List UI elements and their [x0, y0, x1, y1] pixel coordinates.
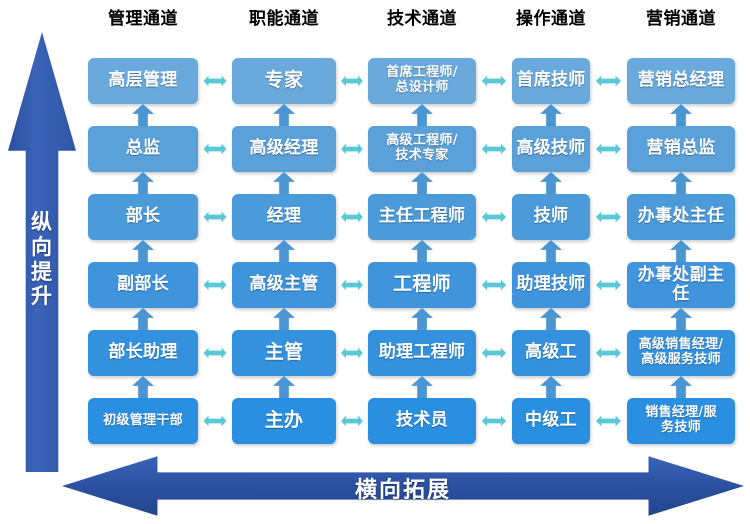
- lateral-arrow-r5-c4-to-c5: [596, 346, 621, 360]
- node-c2-r2[interactable]: 高级经理: [232, 126, 336, 172]
- node-c5-r6[interactable]: 销售经理/服务技师: [627, 398, 735, 444]
- node-c1-r2[interactable]: 总监: [88, 126, 198, 172]
- node-label: 技术员: [396, 411, 448, 430]
- promotion-up-arrow-c4-r4: [540, 308, 562, 330]
- promotion-up-arrow-c5-r5: [670, 376, 692, 398]
- promotion-up-arrow-c2-r3: [273, 240, 295, 262]
- node-label: 主办: [265, 410, 304, 431]
- node-label: 技师: [534, 207, 569, 226]
- promotion-up-arrow-c1-r1: [132, 104, 154, 126]
- promotion-up-arrow-c5-r2: [670, 172, 692, 194]
- node-c2-r6[interactable]: 主办: [232, 398, 336, 444]
- node-label: 营销总经理: [638, 71, 725, 90]
- node-label: 首席工程师/总设计师: [386, 66, 458, 95]
- column-header-5: 营销通道: [627, 6, 735, 32]
- lateral-arrow-r1-c3-to-c4: [482, 74, 506, 88]
- node-c3-r4[interactable]: 工程师: [368, 262, 476, 308]
- node-label: 主管: [265, 342, 304, 363]
- promotion-up-arrow-c3-r2: [411, 172, 433, 194]
- node-label: 部长助理: [108, 343, 177, 362]
- node-c5-r1[interactable]: 营销总经理: [627, 58, 735, 104]
- column-header-2: 职能通道: [232, 6, 336, 32]
- node-c4-r6[interactable]: 中级工: [512, 398, 590, 444]
- lateral-arrow-r5-c1-to-c2: [203, 346, 226, 360]
- promotion-up-arrow-c4-r3: [540, 240, 562, 262]
- node-label: 高级经理: [249, 139, 318, 158]
- lateral-arrow-r2-c3-to-c4: [482, 142, 506, 156]
- node-label: 副部长: [117, 275, 169, 294]
- node-c5-r4[interactable]: 办事处副主任: [627, 262, 735, 308]
- node-label: 部长: [126, 207, 161, 226]
- lateral-arrow-r4-c4-to-c5: [596, 278, 621, 292]
- node-label: 高层管理: [108, 71, 177, 90]
- lateral-arrow-r5-c2-to-c3: [341, 346, 363, 360]
- lateral-arrow-r3-c2-to-c3: [341, 210, 363, 224]
- node-label: 高级销售经理/高级服务技师: [639, 338, 724, 367]
- promotion-up-arrow-c5-r4: [670, 308, 692, 330]
- node-c3-r3[interactable]: 主任工程师: [368, 194, 476, 240]
- node-c1-r1[interactable]: 高层管理: [88, 58, 198, 104]
- node-label: 首席技师: [516, 71, 585, 90]
- lateral-arrow-r3-c3-to-c4: [482, 210, 506, 224]
- node-label: 高级主管: [249, 275, 318, 294]
- lateral-arrow-r2-c1-to-c2: [203, 142, 226, 156]
- promotion-up-arrow-c4-r1: [540, 104, 562, 126]
- lateral-arrow-r5-c3-to-c4: [482, 346, 506, 360]
- promotion-up-arrow-c3-r3: [411, 240, 433, 262]
- node-label: 高级工: [525, 343, 577, 362]
- lateral-arrow-r3-c4-to-c5: [596, 210, 621, 224]
- promotion-up-arrow-c1-r2: [132, 172, 154, 194]
- node-label: 总监: [126, 139, 161, 158]
- node-label: 办事处主任: [638, 207, 725, 226]
- column-header-1: 管理通道: [88, 6, 198, 32]
- node-label: 工程师: [393, 274, 451, 295]
- node-label: 助理工程师: [379, 343, 466, 362]
- node-label: 中级工: [525, 411, 577, 430]
- node-c1-r5[interactable]: 部长助理: [88, 330, 198, 376]
- node-c2-r4[interactable]: 高级主管: [232, 262, 336, 308]
- promotion-up-arrow-c4-r2: [540, 172, 562, 194]
- lateral-arrow-r6-c2-to-c3: [341, 414, 363, 428]
- column-header-4: 操作通道: [512, 6, 590, 32]
- node-label: 高级工程师/技术专家: [386, 134, 458, 163]
- node-c3-r1[interactable]: 首席工程师/总设计师: [368, 58, 476, 104]
- node-c3-r2[interactable]: 高级工程师/技术专家: [368, 126, 476, 172]
- promotion-up-arrow-c2-r2: [273, 172, 295, 194]
- node-label: 初级管理干部: [103, 414, 183, 429]
- node-c4-r2[interactable]: 高级技师: [512, 126, 590, 172]
- lateral-arrow-r1-c4-to-c5: [596, 74, 621, 88]
- node-c1-r3[interactable]: 部长: [88, 194, 198, 240]
- horizontal-expansion-label: 横向拓展: [62, 472, 744, 504]
- node-label: 高级技师: [516, 139, 585, 158]
- promotion-up-arrow-c1-r4: [132, 308, 154, 330]
- lateral-arrow-r1-c2-to-c3: [341, 74, 363, 88]
- node-label: 营销总监: [646, 139, 715, 158]
- node-c3-r5[interactable]: 助理工程师: [368, 330, 476, 376]
- promotion-up-arrow-c2-r5: [273, 376, 295, 398]
- promotion-up-arrow-c2-r1: [273, 104, 295, 126]
- promotion-up-arrow-c3-r4: [411, 308, 433, 330]
- lateral-arrow-r4-c1-to-c2: [203, 278, 226, 292]
- promotion-up-arrow-c5-r3: [670, 240, 692, 262]
- node-c4-r5[interactable]: 高级工: [512, 330, 590, 376]
- career-ladder-diagram: 纵向提升 横向拓展 管理通道高层管理总监部长副部长部长助理初级管理干部职能通道专…: [0, 0, 750, 524]
- promotion-up-arrow-c4-r5: [540, 376, 562, 398]
- promotion-up-arrow-c3-r5: [411, 376, 433, 398]
- promotion-up-arrow-c1-r5: [132, 376, 154, 398]
- node-label: 经理: [267, 207, 302, 226]
- node-c1-r4[interactable]: 副部长: [88, 262, 198, 308]
- promotion-up-arrow-c2-r4: [273, 308, 295, 330]
- column-header-3: 技术通道: [368, 6, 476, 32]
- promotion-up-arrow-c1-r3: [132, 240, 154, 262]
- node-label: 专家: [265, 70, 304, 91]
- node-label: 助理技师: [516, 275, 585, 294]
- node-c5-r2[interactable]: 营销总监: [627, 126, 735, 172]
- lateral-arrow-r2-c4-to-c5: [596, 142, 621, 156]
- node-label: 办事处副主任: [630, 266, 732, 304]
- lateral-arrow-r6-c4-to-c5: [596, 414, 621, 428]
- node-c5-r5[interactable]: 高级销售经理/高级服务技师: [627, 330, 735, 376]
- node-c1-r6[interactable]: 初级管理干部: [88, 398, 198, 444]
- node-label: 主任工程师: [379, 207, 466, 226]
- node-c2-r3[interactable]: 经理: [232, 194, 336, 240]
- promotion-up-arrow-c3-r1: [411, 104, 433, 126]
- node-label: 销售经理/服务技师: [645, 406, 717, 435]
- lateral-arrow-r4-c2-to-c3: [341, 278, 363, 292]
- lateral-arrow-r2-c2-to-c3: [341, 142, 363, 156]
- node-c4-r4[interactable]: 助理技师: [512, 262, 590, 308]
- node-c4-r1[interactable]: 首席技师: [512, 58, 590, 104]
- node-c2-r1[interactable]: 专家: [232, 58, 336, 104]
- lateral-arrow-r4-c3-to-c4: [482, 278, 506, 292]
- promotion-up-arrow-c5-r1: [670, 104, 692, 126]
- node-c4-r3[interactable]: 技师: [512, 194, 590, 240]
- vertical-promotion-label: 纵向提升: [26, 210, 58, 309]
- lateral-arrow-r3-c1-to-c2: [203, 210, 226, 224]
- lateral-arrow-r1-c1-to-c2: [203, 74, 226, 88]
- lateral-arrow-r6-c1-to-c2: [203, 414, 226, 428]
- node-c5-r3[interactable]: 办事处主任: [627, 194, 735, 240]
- node-c2-r5[interactable]: 主管: [232, 330, 336, 376]
- node-c3-r6[interactable]: 技术员: [368, 398, 476, 444]
- lateral-arrow-r6-c3-to-c4: [482, 414, 506, 428]
